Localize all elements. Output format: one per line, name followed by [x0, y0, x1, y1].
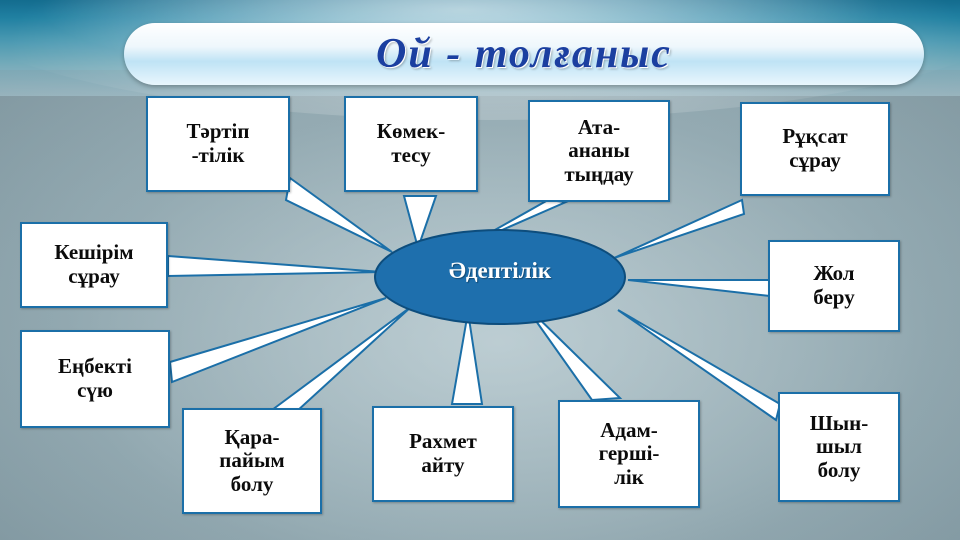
slide-canvas: Ой - толғаныс	[0, 0, 960, 540]
node-qarapayym[interactable]: Қара- пайым болу	[182, 408, 322, 514]
node-rahmet[interactable]: Рахмет айту	[372, 406, 514, 502]
node-kesirim[interactable]: Кешірім сұрау	[20, 222, 168, 308]
node-adamgershi[interactable]: Адам- герші- лік	[558, 400, 700, 508]
node-ruqsat[interactable]: Рұқсат сұрау	[740, 102, 890, 196]
connector-enbekti	[170, 298, 386, 382]
connector-qarapayym	[272, 306, 412, 412]
node-ata-anany[interactable]: Ата- ананы тыңдау	[528, 100, 670, 202]
node-jol-beru[interactable]: Жол беру	[768, 240, 900, 332]
connector-kesirim	[168, 256, 382, 276]
node-shynshyl[interactable]: Шын- шыл болу	[778, 392, 900, 502]
center-node-label: Әдептілік	[380, 258, 620, 284]
connector-jol-beru	[628, 280, 770, 296]
connector-rahmet	[452, 312, 482, 404]
node-enbekti[interactable]: Еңбекті сүю	[20, 330, 170, 428]
connector-ruqsat	[614, 200, 744, 258]
node-komektesu[interactable]: Көмек- тесу	[344, 96, 478, 192]
node-tartiptilik[interactable]: Тәртіп -тілік	[146, 96, 290, 192]
